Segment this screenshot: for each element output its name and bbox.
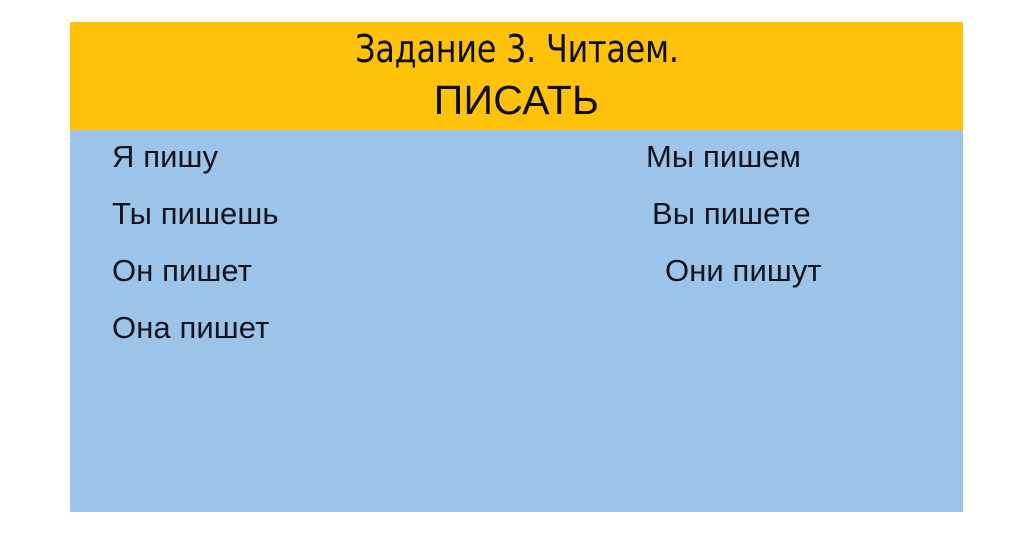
slide-header-band: Задание 3. Читаем. ПИСАТЬ bbox=[70, 22, 963, 130]
conjugation-line: Я пишу bbox=[112, 138, 218, 176]
slide: Задание 3. Читаем. ПИСАТЬ Я пишу Ты пише… bbox=[0, 0, 1024, 548]
conjugation-line: Ты пишешь bbox=[112, 195, 279, 233]
slide-body-panel: Я пишу Ты пишешь Он пишет Она пишет Мы п… bbox=[70, 130, 963, 512]
conjugation-line: Она пишет bbox=[112, 309, 269, 347]
page-title-line-1: Задание 3. Читаем. bbox=[355, 24, 679, 74]
conjugation-line: Он пишет bbox=[112, 252, 252, 290]
conjugation-line: Вы пишете bbox=[652, 195, 811, 233]
conjugation-line: Мы пишем bbox=[646, 138, 801, 176]
conjugation-line: Они пишут bbox=[665, 252, 822, 290]
page-title-line-2: ПИСАТЬ bbox=[434, 74, 600, 126]
